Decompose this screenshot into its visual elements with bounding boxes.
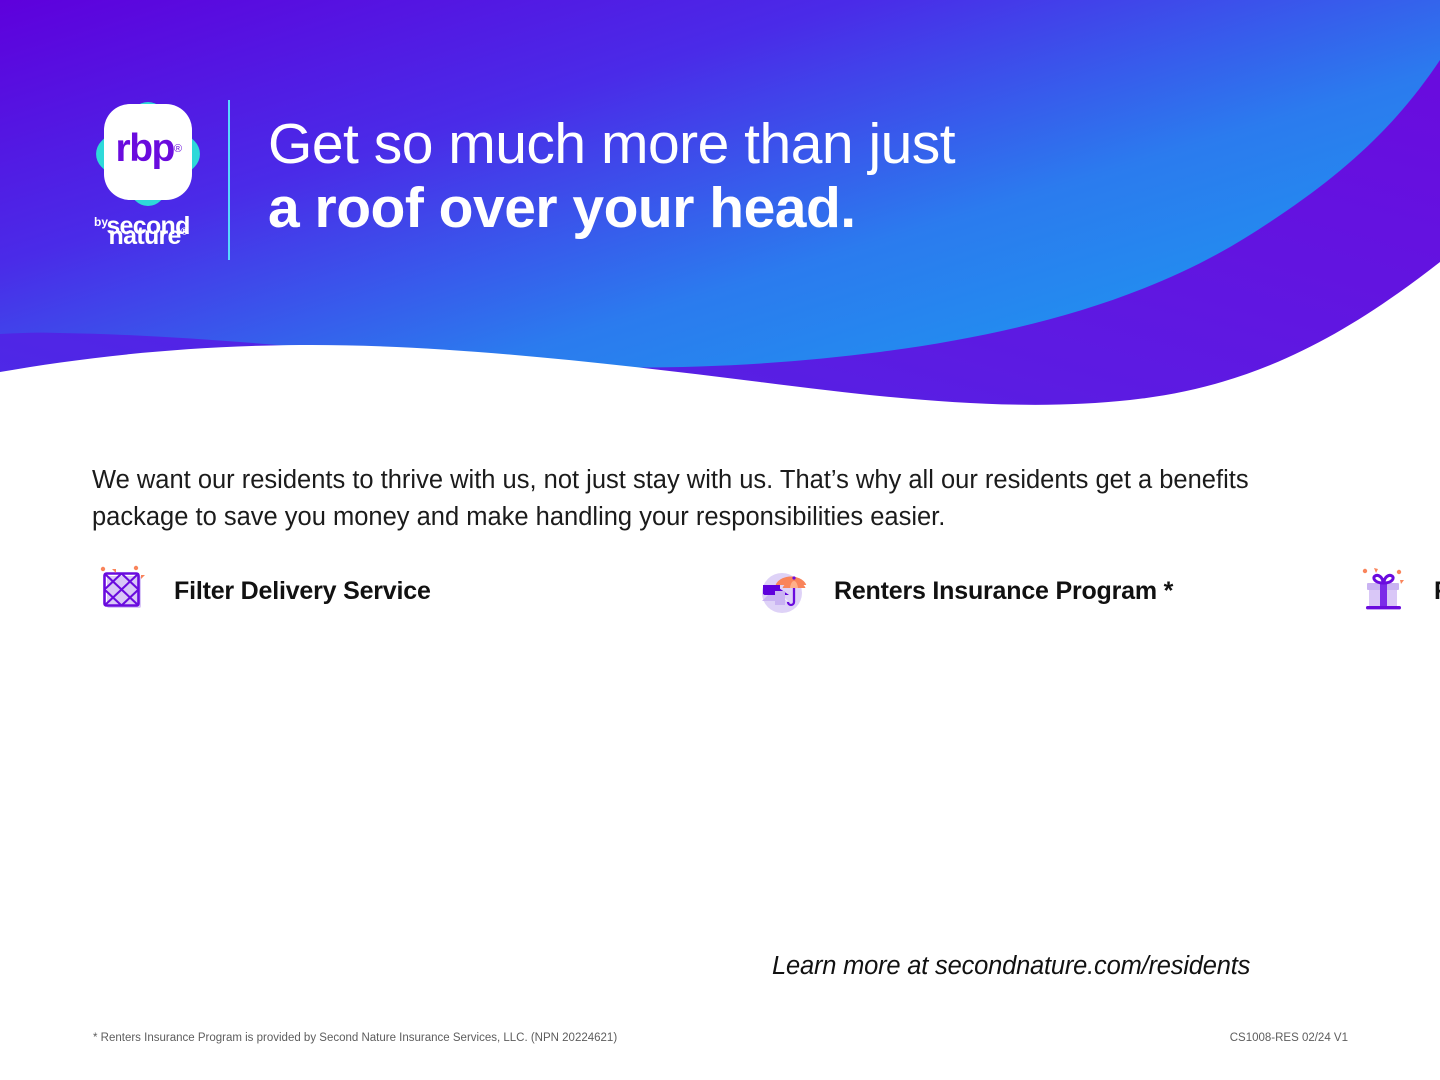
logo-headline-divider <box>228 100 230 260</box>
air-filter-icon <box>92 559 156 623</box>
logo-rbp-text: rbp® <box>92 98 204 200</box>
headline-line-1: Get so much more than just <box>268 113 955 177</box>
learn-more-text: Learn more at secondnature.com/residents <box>772 952 1250 981</box>
headline-line-2: a roof over your head. <box>268 177 955 241</box>
hero-headline: Get so much more than just a roof over y… <box>268 113 955 241</box>
benefit-item-filter-delivery: Filter Delivery Service <box>92 553 752 629</box>
benefit-item-renters-insurance: Renters Insurance Program * <box>752 553 1352 629</box>
logo-registered-icon: ® <box>174 143 181 155</box>
rbp-logo-mark: rbp® <box>92 98 204 210</box>
logo-company-registered-icon: ® <box>181 227 188 238</box>
benefit-item-resident-rewards: Resident Rewards Program <box>1352 553 1440 629</box>
gift-box-icon <box>1352 559 1416 623</box>
umbrella-house-icon <box>752 559 816 623</box>
benefit-label: Filter Delivery Service <box>174 577 431 606</box>
benefit-label: Resident Rewards Program <box>1434 577 1440 606</box>
benefit-label: Renters Insurance Program * <box>834 577 1173 606</box>
logo-rbp-label: rbp <box>116 127 174 171</box>
hero-banner: rbp® by second nature® Get so much more … <box>0 0 1440 440</box>
benefits-grid: Filter Delivery Service Renters Insuranc… <box>92 553 1352 629</box>
footer-document-code: CS1008-RES 02/24 V1 <box>1230 1032 1348 1044</box>
intro-paragraph: We want our residents to thrive with us,… <box>92 462 1322 536</box>
rbp-logo-lockup: rbp® by second nature® <box>84 98 212 248</box>
logo-company-line2-label: nature <box>109 222 181 250</box>
footer-disclaimer: * Renters Insurance Program is provided … <box>93 1032 617 1044</box>
